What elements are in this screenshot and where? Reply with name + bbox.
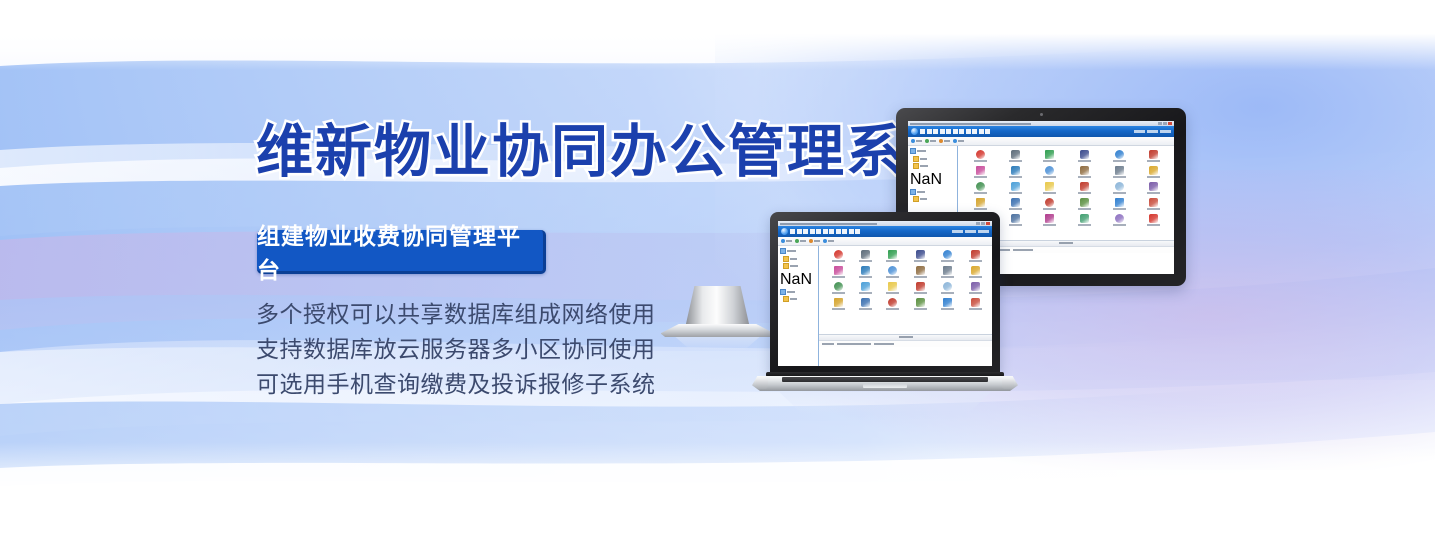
- subtitle-badge: 组建物业收费协同管理平台: [257, 230, 546, 274]
- app-bottom-panel: [819, 334, 992, 366]
- toolbar-button[interactable]: [939, 139, 950, 143]
- module-icon: [1149, 166, 1158, 175]
- app-icon-label: [1009, 208, 1022, 210]
- app-icon-cell[interactable]: [1032, 198, 1067, 210]
- module-icon: [888, 250, 897, 259]
- tree-item[interactable]: [780, 289, 816, 295]
- background-bottom-fade: [0, 442, 1435, 538]
- module-icon: [1011, 198, 1020, 207]
- app-icon-cell[interactable]: [1032, 166, 1067, 178]
- app-icon-cell[interactable]: [1136, 214, 1171, 226]
- feature-item: 多个授权可以共享数据库组成网络使用: [256, 297, 656, 332]
- module-icon: [1149, 214, 1158, 223]
- app-icon-label: [941, 260, 954, 262]
- app-icon-label: [914, 292, 927, 294]
- app-icon-label: [1043, 224, 1056, 226]
- tree-item[interactable]: [783, 256, 816, 262]
- app-icon-cell[interactable]: [962, 298, 989, 310]
- tree-item[interactable]: [910, 189, 955, 195]
- app-icon-cell[interactable]: [1136, 198, 1171, 210]
- module-icon: [1115, 166, 1124, 175]
- header-action[interactable]: [1134, 130, 1145, 133]
- menu-item[interactable]: [979, 129, 984, 134]
- app-icon-cell[interactable]: [1102, 182, 1137, 194]
- module-icon: [834, 250, 843, 259]
- tree-item[interactable]: [783, 263, 816, 269]
- app-icon-label: [974, 176, 987, 178]
- app-icon-label: [1043, 192, 1056, 194]
- app-icon-cell[interactable]: [1136, 166, 1171, 178]
- module-icon: [1045, 182, 1054, 191]
- app-icon-label: [969, 308, 982, 310]
- app-icon-cell[interactable]: [963, 182, 998, 194]
- app-icon-label: [1113, 224, 1126, 226]
- app-icon-label: [1078, 208, 1091, 210]
- app-icon-cell[interactable]: [998, 150, 1033, 162]
- app-icon-label: [914, 308, 927, 310]
- app-icon-cell[interactable]: [907, 282, 934, 294]
- app-body: NaN: [778, 246, 992, 366]
- module-icon: [861, 266, 870, 275]
- module-icon: [971, 250, 980, 259]
- module-icon: [888, 298, 897, 307]
- menu-item[interactable]: [953, 129, 958, 134]
- page-title: 维新物业协同办公管理系统: [256, 124, 964, 181]
- module-icon: [1045, 150, 1054, 159]
- tree-item[interactable]: [913, 163, 955, 169]
- toolbar-button[interactable]: [795, 239, 806, 243]
- menu-item[interactable]: [816, 229, 821, 234]
- module-icon: [1045, 198, 1054, 207]
- app-icon-label: [1009, 192, 1022, 194]
- toolbar-button[interactable]: [781, 239, 792, 243]
- folder-icon: [913, 196, 919, 202]
- app-icon-label: [1113, 208, 1126, 210]
- module-icon: [916, 282, 925, 291]
- app-icon-cell[interactable]: [1067, 182, 1102, 194]
- laptop-reflection: [770, 392, 1000, 414]
- app-icon-label: [886, 260, 899, 262]
- subtitle-badge-label: 组建物业收费协同管理平台: [257, 217, 543, 285]
- app-icon-cell[interactable]: [1067, 214, 1102, 226]
- app-icon-label: [886, 292, 899, 294]
- app-icon-cell[interactable]: [879, 298, 906, 310]
- app-menu-bar[interactable]: [790, 229, 860, 234]
- app-icon-label: [859, 260, 872, 262]
- app-window-laptop: NaN: [778, 221, 992, 366]
- minimize-icon[interactable]: [976, 222, 980, 225]
- menu-item[interactable]: [855, 229, 860, 234]
- header-action[interactable]: [952, 230, 963, 233]
- header-action[interactable]: [1160, 130, 1171, 133]
- app-icon-label: [1078, 176, 1091, 178]
- app-toolbar[interactable]: [778, 237, 992, 246]
- app-icon-label: [1043, 208, 1056, 210]
- menu-item[interactable]: [972, 129, 977, 134]
- app-main-panel: [819, 246, 992, 366]
- menu-item[interactable]: [849, 229, 854, 234]
- menu-item[interactable]: [985, 129, 990, 134]
- app-icon-cell[interactable]: [1102, 150, 1137, 162]
- app-icon-cell[interactable]: [1067, 150, 1102, 162]
- header-action[interactable]: [978, 230, 989, 233]
- close-icon[interactable]: [986, 222, 990, 225]
- app-header-actions[interactable]: [952, 230, 989, 233]
- toolbar-button[interactable]: [823, 239, 834, 243]
- toolbar-button[interactable]: [911, 139, 922, 143]
- app-icon-cell[interactable]: [1032, 182, 1067, 194]
- app-icon-label: [1009, 160, 1022, 162]
- app-icon-label: [1147, 176, 1160, 178]
- tree-item-label: [790, 265, 798, 267]
- app-icon-cell[interactable]: [1032, 214, 1067, 226]
- app-icon-cell[interactable]: [1102, 198, 1137, 210]
- folder-icon: [913, 163, 919, 169]
- module-icon: [971, 266, 980, 275]
- app-icon-cell[interactable]: [852, 298, 879, 310]
- app-icon-label: [974, 208, 987, 210]
- app-logo-icon: [911, 128, 918, 135]
- app-icon-label: [1009, 176, 1022, 178]
- app-icon-cell[interactable]: [1067, 166, 1102, 178]
- menu-item[interactable]: [933, 129, 938, 134]
- app-icon-label: [1147, 224, 1160, 226]
- tree-item-label: [917, 191, 925, 193]
- app-icon-cell[interactable]: [962, 250, 989, 262]
- module-icon: [1115, 214, 1124, 223]
- tree-item-label: [920, 165, 928, 167]
- tree-item[interactable]: [783, 296, 816, 302]
- tree-item-label: [787, 250, 796, 252]
- menu-item[interactable]: [803, 229, 808, 234]
- app-icon-label: [1043, 176, 1056, 178]
- module-icon: [1115, 182, 1124, 191]
- tree-item[interactable]: [913, 156, 955, 162]
- laptop-trackpad: [863, 384, 907, 388]
- folder-icon: [780, 289, 786, 295]
- app-toolbar[interactable]: [908, 137, 1174, 146]
- app-icon-label: [1147, 208, 1160, 210]
- module-icon: [1115, 198, 1124, 207]
- app-icon-label: [969, 292, 982, 294]
- module-icon: [943, 298, 952, 307]
- module-icon: [888, 282, 897, 291]
- app-icon-label: [859, 308, 872, 310]
- app-icon-label: [886, 276, 899, 278]
- menu-item[interactable]: [823, 229, 828, 234]
- app-icon-cell[interactable]: [1136, 182, 1171, 194]
- app-icon-label: [941, 308, 954, 310]
- app-icon-label: [974, 160, 987, 162]
- window-title: [780, 223, 877, 225]
- menu-item[interactable]: [966, 129, 971, 134]
- module-icon: [971, 298, 980, 307]
- tree-item-label: [787, 291, 795, 293]
- app-icon-cell[interactable]: [1067, 198, 1102, 210]
- module-icon: [943, 282, 952, 291]
- navigation-tree[interactable]: NaN: [778, 246, 819, 366]
- app-header-bar: [778, 226, 992, 237]
- app-icon-cell[interactable]: [907, 266, 934, 278]
- menu-item[interactable]: [797, 229, 802, 234]
- module-icon: [1080, 214, 1089, 223]
- module-icon: [1080, 166, 1089, 175]
- app-icon-label: [1113, 176, 1126, 178]
- app-icon-cell[interactable]: [879, 282, 906, 294]
- module-icon: [1080, 182, 1089, 191]
- app-icon-cell[interactable]: [934, 250, 961, 262]
- menu-item[interactable]: [829, 229, 834, 234]
- app-icon-cell[interactable]: [879, 266, 906, 278]
- app-icon-label: [1113, 160, 1126, 162]
- app-icon-cell[interactable]: [934, 282, 961, 294]
- module-icon: [1011, 150, 1020, 159]
- app-icon-label: [832, 260, 845, 262]
- app-icon-label: [941, 292, 954, 294]
- app-icon-label: [832, 276, 845, 278]
- app-icon-label: [974, 192, 987, 194]
- bottom-panel-body: [819, 347, 992, 366]
- laptop-foot-left: [756, 378, 768, 389]
- feature-list: 多个授权可以共享数据库组成网络使用 支持数据库放云服务器多小区协同使用 可选用手…: [256, 297, 656, 402]
- app-icon-label: [914, 276, 927, 278]
- app-icon-cell[interactable]: [1032, 150, 1067, 162]
- app-icon-label: [1113, 192, 1126, 194]
- tree-item-label: [920, 158, 927, 160]
- tree-item[interactable]: [910, 148, 955, 154]
- app-icon-cell[interactable]: [998, 182, 1033, 194]
- laptop-computer: NaN: [752, 212, 1018, 390]
- promotional-banner: 维新物业协同办公管理系统 组建物业收费协同管理平台 多个授权可以共享数据库组成网…: [0, 0, 1435, 538]
- app-logo-icon: [781, 228, 788, 235]
- module-icon: [1080, 150, 1089, 159]
- app-icon-cell[interactable]: [962, 266, 989, 278]
- maximize-icon[interactable]: [981, 222, 985, 225]
- module-icon: [861, 250, 870, 259]
- app-icon-cell[interactable]: [1102, 166, 1137, 178]
- menu-item[interactable]: [920, 129, 925, 134]
- folder-icon: [783, 256, 789, 262]
- app-icon-label: [1147, 192, 1160, 194]
- app-icon-label: [886, 308, 899, 310]
- app-menu-bar[interactable]: [920, 129, 990, 134]
- module-icon: [943, 266, 952, 275]
- laptop-foot-right: [1002, 378, 1014, 389]
- app-icon-cell[interactable]: [907, 250, 934, 262]
- app-icon-label: [969, 260, 982, 262]
- app-icon-cell[interactable]: [963, 166, 998, 178]
- folder-icon: [910, 148, 916, 154]
- tree-item-label: [920, 198, 927, 200]
- tree-item-label: [790, 298, 797, 300]
- app-icon-cell[interactable]: [879, 250, 906, 262]
- app-icon-cell[interactable]: [852, 266, 879, 278]
- app-icon-label: [1078, 192, 1091, 194]
- module-icon: [1045, 214, 1054, 223]
- app-icon-label: [1043, 160, 1056, 162]
- folder-icon: [910, 189, 916, 195]
- tree-item-label: [790, 258, 797, 260]
- maximize-icon[interactable]: [1163, 122, 1167, 125]
- laptop-keyboard: [782, 377, 988, 382]
- background-top-fade: [0, 0, 1435, 70]
- app-icon-label: [969, 276, 982, 278]
- menu-item[interactable]: [836, 229, 841, 234]
- folder-icon: [783, 263, 789, 269]
- folder-icon: [783, 296, 789, 302]
- menu-item[interactable]: [927, 129, 932, 134]
- module-icon: [1149, 182, 1158, 191]
- app-header-bar: [908, 126, 1174, 137]
- window-controls[interactable]: [976, 222, 990, 225]
- menu-item[interactable]: [959, 129, 964, 134]
- tree-item-label: [917, 150, 926, 152]
- module-icon: [1011, 182, 1020, 191]
- menu-item[interactable]: [940, 129, 945, 134]
- toolbar-button[interactable]: [809, 239, 820, 243]
- module-icon: [834, 282, 843, 291]
- app-icon-cell[interactable]: [998, 198, 1033, 210]
- toolbar-button[interactable]: [953, 139, 964, 143]
- app-icon-label: [859, 276, 872, 278]
- tree-item[interactable]: [780, 248, 816, 254]
- app-icon-label: [859, 292, 872, 294]
- app-header-actions[interactable]: [1134, 130, 1171, 133]
- module-icon: [1149, 198, 1158, 207]
- app-icon-cell[interactable]: [934, 298, 961, 310]
- app-icon-label: [1078, 224, 1091, 226]
- header-action[interactable]: [965, 230, 976, 233]
- header-action[interactable]: [1147, 130, 1158, 133]
- menu-item[interactable]: [946, 129, 951, 134]
- folder-icon: [780, 248, 786, 254]
- app-icon-cell[interactable]: [1102, 214, 1137, 226]
- module-icon: [834, 266, 843, 275]
- module-icon: [1045, 166, 1054, 175]
- app-icon-label: [832, 292, 845, 294]
- feature-item: 支持数据库放云服务器多小区协同使用: [256, 332, 656, 367]
- close-icon[interactable]: [1168, 122, 1172, 125]
- module-icon: [1080, 198, 1089, 207]
- app-icon-label: [941, 276, 954, 278]
- monitor-stand-neck: [686, 286, 750, 326]
- module-icon: [943, 250, 952, 259]
- laptop-screen: NaN: [778, 221, 992, 366]
- webcam-icon: [1040, 113, 1043, 116]
- app-icon-label: [1147, 160, 1160, 162]
- module-icon: [916, 298, 925, 307]
- module-icon: [971, 282, 980, 291]
- tree-item[interactable]: [913, 196, 955, 202]
- app-icon-cell[interactable]: [962, 282, 989, 294]
- app-icon-cell[interactable]: [824, 266, 851, 278]
- module-icon: [976, 150, 985, 159]
- app-icon-cell[interactable]: [852, 282, 879, 294]
- module-icon: [1115, 150, 1124, 159]
- app-icon-cell[interactable]: [907, 298, 934, 310]
- module-icon: [976, 182, 985, 191]
- app-icon-cell[interactable]: [824, 298, 851, 310]
- module-icon: [1011, 166, 1020, 175]
- app-icon-cell[interactable]: [824, 282, 851, 294]
- module-icon: [976, 198, 985, 207]
- app-icon-cell[interactable]: [824, 250, 851, 262]
- module-icon: [1149, 150, 1158, 159]
- app-icon-cell[interactable]: [1136, 150, 1171, 162]
- toolbar-button[interactable]: [925, 139, 936, 143]
- module-icon-grid[interactable]: [819, 246, 992, 334]
- minimize-icon[interactable]: [1158, 122, 1162, 125]
- module-icon: [976, 166, 985, 175]
- module-icon: [888, 266, 897, 275]
- app-icon-cell[interactable]: [934, 266, 961, 278]
- app-icon-label: [1078, 160, 1091, 162]
- menu-item[interactable]: [842, 229, 847, 234]
- menu-item[interactable]: [790, 229, 795, 234]
- app-icon-cell[interactable]: [963, 150, 998, 162]
- laptop-lid: NaN: [770, 212, 1000, 374]
- app-icon-cell[interactable]: [852, 250, 879, 262]
- module-icon: [861, 282, 870, 291]
- module-icon: [916, 266, 925, 275]
- window-controls[interactable]: [1158, 122, 1172, 125]
- feature-item: 可选用手机查询缴费及投诉报修子系统: [256, 367, 656, 402]
- module-icon: [916, 250, 925, 259]
- app-icon-cell[interactable]: [963, 198, 998, 210]
- app-icon-cell[interactable]: [998, 166, 1033, 178]
- window-title: [910, 123, 1031, 125]
- app-icon-label: [832, 308, 845, 310]
- folder-icon: [913, 156, 919, 162]
- menu-item[interactable]: [810, 229, 815, 234]
- module-icon: [834, 298, 843, 307]
- module-icon: [861, 298, 870, 307]
- app-icon-label: [914, 260, 927, 262]
